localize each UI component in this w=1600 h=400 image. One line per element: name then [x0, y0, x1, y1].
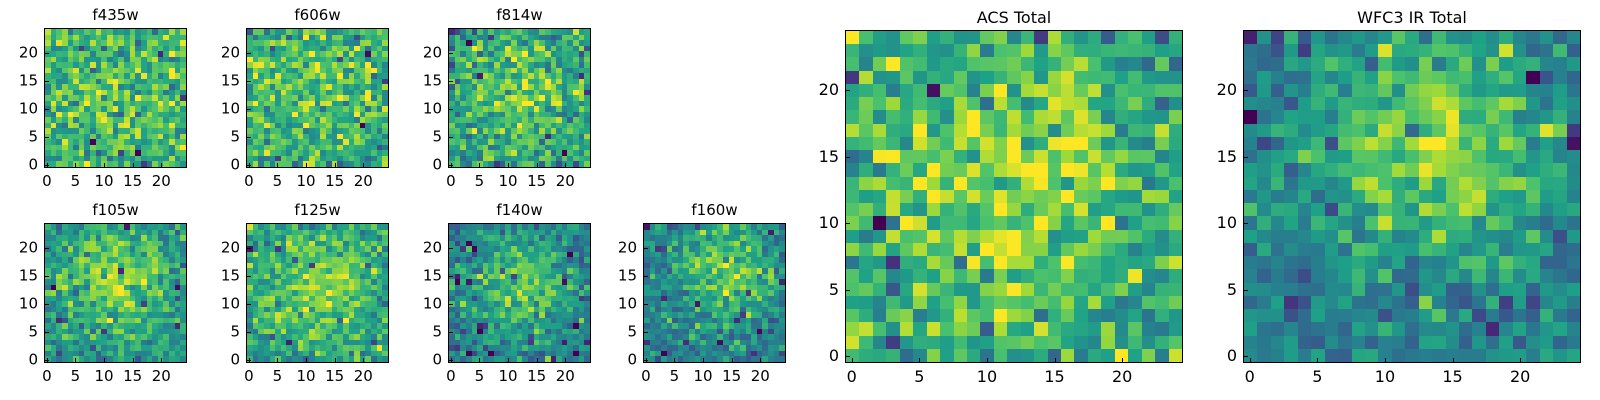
y-tick-label: 0 [1227, 348, 1237, 364]
y-tick [45, 276, 49, 277]
x-tick-label: 20 [556, 369, 575, 384]
y-tick-label: 15 [819, 149, 839, 165]
x-tick [363, 163, 364, 167]
x-tick-label: 15 [325, 174, 344, 189]
y-tick-label: 5 [829, 282, 839, 298]
y-tick [449, 304, 453, 305]
y-tick-label: 0 [627, 353, 637, 368]
panel-f606w: f606w0055101015152020 [206, 4, 389, 194]
y-tick-label: 0 [28, 158, 38, 173]
panel-title-f435w: f435w [44, 8, 187, 23]
x-tick [703, 358, 704, 362]
heatmap-f125w [246, 223, 389, 363]
x-tick-label: 20 [1510, 369, 1530, 385]
y-tick-label: 15 [618, 269, 637, 284]
panel-f435w: f435w0055101015152020 [4, 4, 187, 194]
x-tick [479, 358, 480, 362]
y-tick [45, 332, 49, 333]
y-tick [449, 53, 453, 54]
y-tick [1244, 290, 1248, 291]
y-tick-label: 20 [819, 82, 839, 98]
x-tick [104, 358, 105, 362]
x-tick-label: 5 [670, 369, 680, 384]
x-tick [674, 358, 675, 362]
x-tick [277, 163, 278, 167]
x-tick-label: 0 [446, 369, 456, 384]
y-tick [247, 304, 251, 305]
y-tick [247, 137, 251, 138]
x-tick-label: 0 [1245, 369, 1255, 385]
panel-title-f105w: f105w [44, 203, 187, 218]
y-tick-label: 5 [432, 325, 442, 340]
x-tick [760, 358, 761, 362]
x-tick [987, 358, 988, 362]
y-tick [846, 157, 850, 158]
x-tick-label: 15 [123, 174, 142, 189]
x-tick [335, 358, 336, 362]
y-tick [449, 276, 453, 277]
x-tick [161, 163, 162, 167]
x-tick [75, 163, 76, 167]
y-tick-label: 0 [829, 348, 839, 364]
y-tick-label: 10 [221, 297, 240, 312]
x-tick [479, 163, 480, 167]
x-tick [537, 358, 538, 362]
x-tick-label: 5 [71, 369, 81, 384]
y-tick-label: 15 [221, 74, 240, 89]
y-tick [45, 360, 49, 361]
x-tick [919, 358, 920, 362]
y-tick [644, 276, 648, 277]
x-tick-label: 10 [694, 369, 713, 384]
y-tick-label: 0 [28, 353, 38, 368]
y-tick-label: 0 [432, 353, 442, 368]
panel-title-f140w: f140w [448, 203, 591, 218]
y-tick-label: 5 [432, 130, 442, 145]
y-tick [846, 223, 850, 224]
x-tick-label: 15 [325, 369, 344, 384]
y-tick [644, 360, 648, 361]
x-tick [508, 163, 509, 167]
x-tick-label: 15 [1442, 369, 1462, 385]
y-tick-label: 20 [618, 241, 637, 256]
y-tick-label: 15 [423, 74, 442, 89]
figure-canvas: f435w0055101015152020f606w00551010151520… [0, 0, 1600, 400]
x-tick-label: 0 [42, 174, 52, 189]
y-tick-label: 10 [1217, 215, 1237, 231]
heatmap-wfc3-ir-total [1243, 30, 1581, 363]
heatmap-cells [449, 224, 590, 362]
y-tick [247, 165, 251, 166]
x-tick-label: 10 [95, 174, 114, 189]
x-tick-label: 20 [751, 369, 770, 384]
x-tick-label: 0 [446, 174, 456, 189]
x-tick [852, 358, 853, 362]
x-tick [1250, 358, 1251, 362]
y-tick [45, 165, 49, 166]
x-tick [1122, 358, 1123, 362]
y-tick [45, 81, 49, 82]
x-tick [565, 358, 566, 362]
y-tick [1244, 90, 1248, 91]
y-tick [45, 109, 49, 110]
y-tick-label: 15 [221, 269, 240, 284]
panel-title-f606w: f606w [246, 8, 389, 23]
panel-wfc3-ir-total: WFC3 IR Total0055101015152020 [1203, 6, 1581, 389]
y-tick-label: 10 [221, 102, 240, 117]
y-tick [1244, 223, 1248, 224]
y-tick [247, 109, 251, 110]
heatmap-cells [247, 224, 388, 362]
x-tick [363, 358, 364, 362]
x-tick-label: 20 [556, 174, 575, 189]
y-tick [247, 53, 251, 54]
x-tick-label: 5 [273, 369, 283, 384]
x-tick [104, 163, 105, 167]
y-tick [644, 304, 648, 305]
x-tick-label: 10 [1375, 369, 1395, 385]
panel-title-f125w: f125w [246, 203, 389, 218]
x-tick-label: 0 [42, 369, 52, 384]
panel-f105w: f105w0055101015152020 [4, 199, 187, 389]
x-tick-label: 5 [273, 174, 283, 189]
x-tick-label: 10 [499, 369, 518, 384]
heatmap-cells [247, 29, 388, 167]
x-tick [306, 358, 307, 362]
y-tick-label: 20 [19, 46, 38, 61]
y-tick-label: 20 [423, 46, 442, 61]
panel-title-acs-total: ACS Total [845, 10, 1183, 26]
y-tick [45, 304, 49, 305]
heatmap-cells [45, 224, 186, 362]
heatmap-cells [449, 29, 590, 167]
y-tick-label: 20 [423, 241, 442, 256]
x-tick [732, 358, 733, 362]
heatmap-f140w [448, 223, 591, 363]
x-tick [537, 163, 538, 167]
panel-title-f160w: f160w [643, 203, 786, 218]
y-tick-label: 10 [618, 297, 637, 312]
x-tick-label: 10 [499, 174, 518, 189]
y-tick [247, 248, 251, 249]
y-tick [846, 290, 850, 291]
x-tick [1385, 358, 1386, 362]
heatmap-f814w [448, 28, 591, 168]
x-tick-label: 0 [244, 369, 254, 384]
y-tick-label: 15 [19, 74, 38, 89]
y-tick [1244, 157, 1248, 158]
panel-f140w: f140w0055101015152020 [408, 199, 591, 389]
y-tick [1244, 356, 1248, 357]
panel-title-wfc3-ir-total: WFC3 IR Total [1243, 10, 1581, 26]
y-tick [449, 165, 453, 166]
y-tick-label: 10 [423, 297, 442, 312]
y-tick [45, 248, 49, 249]
y-tick [449, 109, 453, 110]
x-tick [1055, 358, 1056, 362]
y-tick [247, 81, 251, 82]
y-tick-label: 15 [19, 269, 38, 284]
y-tick [247, 276, 251, 277]
y-tick [644, 248, 648, 249]
y-tick-label: 10 [423, 102, 442, 117]
y-tick-label: 0 [230, 158, 240, 173]
x-tick [1453, 358, 1454, 362]
y-tick-label: 5 [28, 325, 38, 340]
heatmap-f606w [246, 28, 389, 168]
y-tick-label: 10 [19, 297, 38, 312]
heatmap-cells [1244, 31, 1580, 362]
y-tick-label: 20 [1217, 82, 1237, 98]
x-tick-label: 15 [1044, 369, 1064, 385]
x-tick-label: 15 [527, 369, 546, 384]
x-tick-label: 5 [475, 369, 485, 384]
y-tick-label: 0 [230, 353, 240, 368]
x-tick-label: 20 [354, 369, 373, 384]
y-tick [644, 332, 648, 333]
y-tick-label: 10 [19, 102, 38, 117]
y-tick-label: 0 [432, 158, 442, 173]
x-tick [306, 163, 307, 167]
x-tick [1520, 358, 1521, 362]
y-tick-label: 5 [627, 325, 637, 340]
x-tick-label: 5 [1312, 369, 1322, 385]
y-tick [846, 90, 850, 91]
x-tick-label: 0 [847, 369, 857, 385]
panel-f814w: f814w0055101015152020 [408, 4, 591, 194]
y-tick-label: 15 [423, 269, 442, 284]
panel-acs-total: ACS Total0055101015152020 [805, 6, 1183, 389]
x-tick-label: 10 [977, 369, 997, 385]
x-tick-label: 5 [914, 369, 924, 385]
heatmap-cells [846, 31, 1182, 362]
y-tick-label: 5 [230, 130, 240, 145]
x-tick-label: 0 [641, 369, 651, 384]
panel-title-f814w: f814w [448, 8, 591, 23]
y-tick-label: 5 [1227, 282, 1237, 298]
x-tick [508, 358, 509, 362]
x-tick [565, 163, 566, 167]
x-tick-label: 0 [244, 174, 254, 189]
x-tick-label: 5 [475, 174, 485, 189]
x-tick-label: 20 [152, 369, 171, 384]
y-tick [45, 53, 49, 54]
x-tick-label: 15 [123, 369, 142, 384]
x-tick [75, 358, 76, 362]
x-tick-label: 5 [71, 174, 81, 189]
y-tick [846, 356, 850, 357]
panel-f125w: f125w0055101015152020 [206, 199, 389, 389]
y-tick [45, 137, 49, 138]
x-tick-label: 15 [527, 174, 546, 189]
y-tick [449, 248, 453, 249]
y-tick [247, 360, 251, 361]
x-tick-label: 20 [354, 174, 373, 189]
x-tick [161, 358, 162, 362]
y-tick [449, 332, 453, 333]
y-tick [449, 137, 453, 138]
heatmap-f105w [44, 223, 187, 363]
heatmap-f435w [44, 28, 187, 168]
heatmap-cells [644, 224, 785, 362]
x-tick [335, 163, 336, 167]
x-tick-label: 15 [722, 369, 741, 384]
heatmap-cells [45, 29, 186, 167]
panel-f160w: f160w0055101015152020 [603, 199, 786, 389]
x-tick [1317, 358, 1318, 362]
x-tick [277, 358, 278, 362]
x-tick-label: 10 [297, 174, 316, 189]
x-tick-label: 20 [152, 174, 171, 189]
y-tick [247, 332, 251, 333]
x-tick [133, 163, 134, 167]
y-tick-label: 20 [19, 241, 38, 256]
x-tick [133, 358, 134, 362]
x-tick-label: 10 [297, 369, 316, 384]
y-tick-label: 20 [221, 241, 240, 256]
y-tick-label: 20 [221, 46, 240, 61]
y-tick [449, 360, 453, 361]
x-tick-label: 10 [95, 369, 114, 384]
y-tick-label: 10 [819, 215, 839, 231]
y-tick-label: 5 [28, 130, 38, 145]
y-tick-label: 5 [230, 325, 240, 340]
y-tick-label: 15 [1217, 149, 1237, 165]
x-tick-label: 20 [1112, 369, 1132, 385]
heatmap-acs-total [845, 30, 1183, 363]
y-tick [449, 81, 453, 82]
heatmap-f160w [643, 223, 786, 363]
